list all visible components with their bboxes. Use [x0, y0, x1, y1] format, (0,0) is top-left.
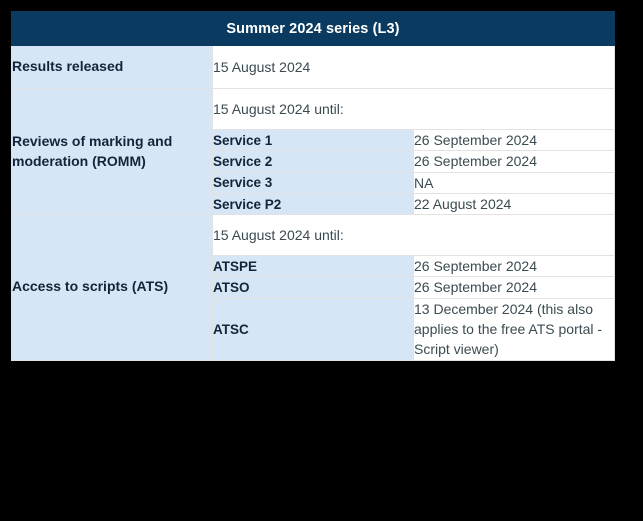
romm-intro-value: 15 August 2024 until:	[213, 89, 615, 130]
table-row: Results released 15 August 2024	[12, 46, 615, 89]
table-caption: Summer 2024 series (L3)	[12, 12, 615, 46]
section-label-romm: Reviews of marking and moderation (ROMM)	[12, 89, 213, 215]
section-label-ats: Access to scripts (ATS)	[12, 215, 213, 360]
schedule-table: Summer 2024 series (L3) Results released…	[11, 11, 615, 361]
ats-atsc-label: ATSC	[213, 298, 414, 360]
romm-service-p2-label: Service P2	[213, 193, 414, 214]
page-background: Summer 2024 series (L3) Results released…	[0, 0, 643, 521]
romm-service-3-label: Service 3	[213, 172, 414, 193]
ats-atso-value: 26 September 2024	[414, 277, 615, 298]
results-released-value: 15 August 2024	[213, 46, 615, 89]
romm-service-p2-value: 22 August 2024	[414, 193, 615, 214]
romm-service-2-label: Service 2	[213, 151, 414, 172]
romm-service-1-label: Service 1	[213, 130, 414, 151]
table-row: Access to scripts (ATS) 15 August 2024 u…	[12, 215, 615, 256]
romm-service-1-value: 26 September 2024	[414, 130, 615, 151]
ats-atso-label: ATSO	[213, 277, 414, 298]
table-caption-row: Summer 2024 series (L3)	[12, 12, 615, 46]
romm-service-3-value: NA	[414, 172, 615, 193]
table-row: Reviews of marking and moderation (ROMM)…	[12, 89, 615, 130]
romm-service-2-value: 26 September 2024	[414, 151, 615, 172]
section-label-results-released: Results released	[12, 46, 213, 89]
ats-atspe-value: 26 September 2024	[414, 256, 615, 277]
ats-atspe-label: ATSPE	[213, 256, 414, 277]
ats-intro-value: 15 August 2024 until:	[213, 215, 615, 256]
schedule-table-container: Summer 2024 series (L3) Results released…	[11, 11, 615, 361]
ats-atsc-value: 13 December 2024 (this also applies to t…	[414, 298, 615, 360]
